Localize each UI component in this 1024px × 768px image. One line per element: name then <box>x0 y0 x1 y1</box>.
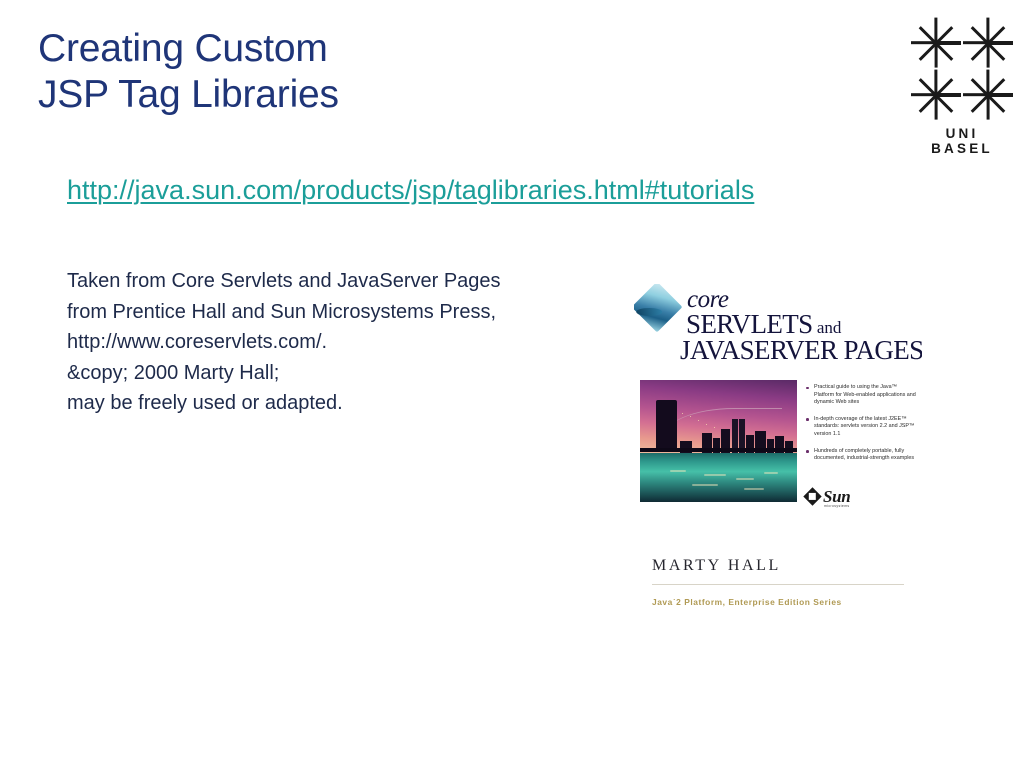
asterisk-icon <box>962 69 1014 121</box>
bridge-deck <box>640 448 797 452</box>
cover-bullet-item: Hundreds of completely portable, fully d… <box>806 448 918 463</box>
basel-lattice-icon <box>915 22 1009 116</box>
cover-divider <box>652 584 904 585</box>
asterisk-icon <box>962 17 1014 69</box>
book-cover-image: core SERVLETS and JAVASERVER PAGES™ <box>634 284 922 621</box>
page-title: Creating Custom JSP Tag Libraries <box>38 26 638 118</box>
cover-word-javaserver: JAVASERVER <box>680 335 837 365</box>
attribution-line: from Prentice Hall and Sun Microsystems … <box>67 297 632 328</box>
attribution-block: Taken from Core Servlets and JavaServer … <box>67 266 632 419</box>
cover-masthead: core SERVLETS and JAVASERVER PAGES™ <box>634 284 922 372</box>
cover-bullet-list: Practical guide to using the Java™ Platf… <box>806 384 918 472</box>
attribution-line: Taken from Core Servlets and JavaServer … <box>67 266 632 297</box>
cover-bullet-item: Practical guide to using the Java™ Platf… <box>806 384 918 407</box>
core-series-diamond-icon <box>634 284 682 332</box>
asterisk-icon <box>910 69 962 121</box>
taglibraries-tutorial-link[interactable]: http://java.sun.com/products/jsp/taglibr… <box>67 174 754 206</box>
cover-skyline-photo <box>640 380 797 502</box>
logo-line-basel: BASEL <box>912 141 1012 156</box>
attribution-line: &copy; 2000 Marty Hall; <box>67 358 632 389</box>
uni-basel-logo: UNI BASEL <box>912 22 1012 156</box>
asterisk-icon <box>910 17 962 69</box>
uni-basel-wordmark: UNI BASEL <box>912 126 1012 156</box>
cover-line-javaserver-pages: JAVASERVER PAGES™ <box>680 335 922 366</box>
cover-word-pages: PAGES <box>837 335 922 365</box>
bridge-tower <box>656 400 677 452</box>
logo-line-uni: UNI <box>912 126 1012 141</box>
sun-microsystems-logo: Sun microsystems <box>806 486 906 512</box>
sun-subtitle: microsystems <box>824 504 850 508</box>
attribution-line: may be freely used or adapted. <box>67 388 632 419</box>
sun-diamond-icon <box>803 487 821 505</box>
cover-bullet-item: In-depth coverage of the latest J2EE™ st… <box>806 416 918 439</box>
cover-series-label: Java˙2 Platform, Enterprise Edition Seri… <box>652 597 842 607</box>
attribution-line: http://www.coreservlets.com/. <box>67 327 632 358</box>
photo-water <box>640 453 797 502</box>
cover-author-name: MARTY HALL <box>652 557 781 575</box>
